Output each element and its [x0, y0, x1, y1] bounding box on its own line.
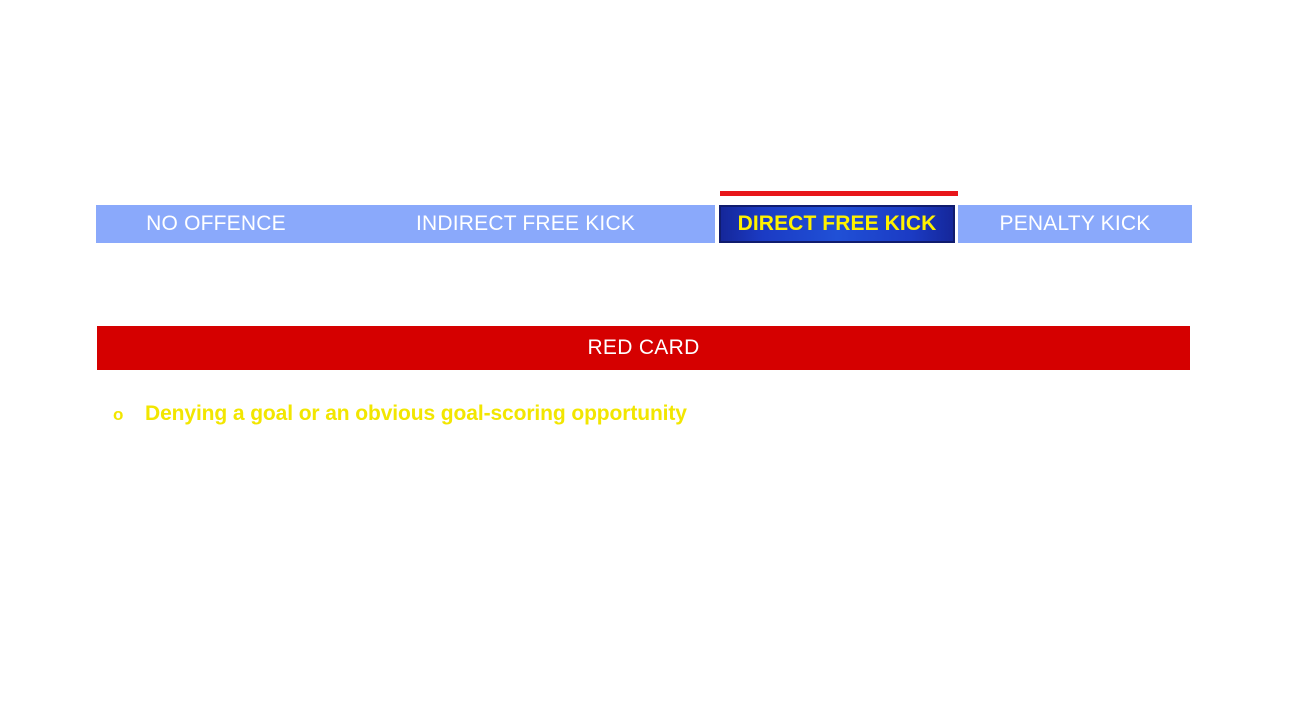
- tab-direct-free-kick-label: DIRECT FREE KICK: [738, 212, 937, 236]
- tab-indirect-free-kick[interactable]: INDIRECT FREE KICK: [336, 205, 715, 243]
- tab-direct-free-kick[interactable]: DIRECT FREE KICK: [719, 205, 955, 243]
- offence-outcome-tabbar: NO OFFENCE INDIRECT FREE KICK DIRECT FRE…: [96, 205, 1192, 243]
- tab-no-offence-label: NO OFFENCE: [146, 212, 286, 236]
- red-card-banner-label: RED CARD: [587, 336, 699, 360]
- red-card-banner: RED CARD: [97, 326, 1190, 370]
- active-tab-marker: [720, 191, 958, 196]
- bullet-marker-icon: o: [113, 403, 145, 427]
- tab-penalty-kick[interactable]: PENALTY KICK: [958, 205, 1192, 243]
- tab-indirect-free-kick-label: INDIRECT FREE KICK: [416, 212, 635, 236]
- bullet-item-text: Denying a goal or an obvious goal-scorin…: [145, 400, 687, 428]
- tab-no-offence[interactable]: NO OFFENCE: [96, 205, 336, 243]
- slide-canvas: NO OFFENCE INDIRECT FREE KICK DIRECT FRE…: [0, 0, 1290, 727]
- list-item: o Denying a goal or an obvious goal-scor…: [113, 400, 1173, 428]
- bullet-list: o Denying a goal or an obvious goal-scor…: [113, 400, 1173, 438]
- tab-penalty-kick-label: PENALTY KICK: [999, 212, 1150, 236]
